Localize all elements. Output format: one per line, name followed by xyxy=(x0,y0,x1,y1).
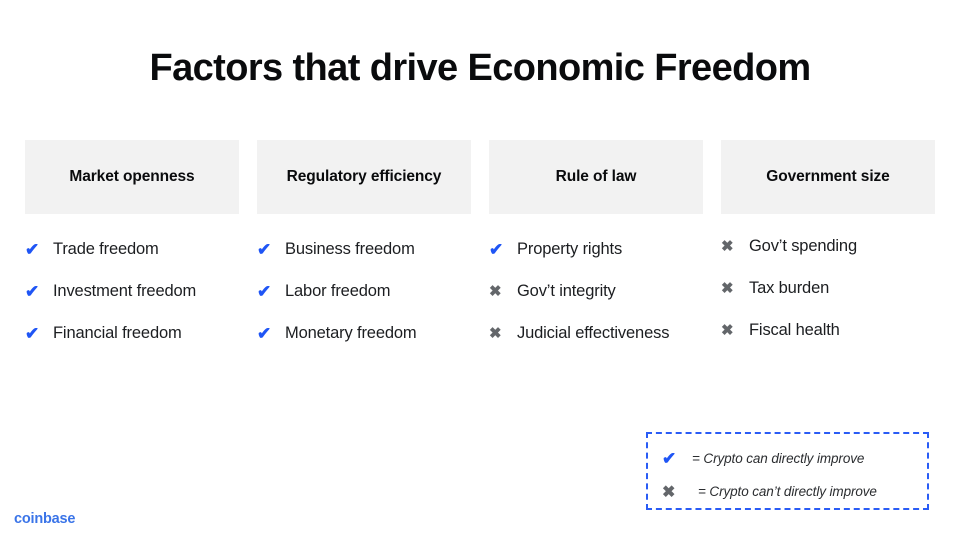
column-header-label: Regulatory efficiency xyxy=(287,168,442,187)
list-item: ✔ Labor freedom xyxy=(257,280,471,303)
list-item-label: Property rights xyxy=(517,238,622,261)
list-item-label: Labor freedom xyxy=(285,280,390,303)
check-icon: ✔ xyxy=(25,238,47,261)
column-header-label: Market openness xyxy=(69,168,194,187)
check-icon: ✔ xyxy=(257,238,279,261)
column-government-size: Government size ✖ Gov’t spending ✖ Tax b… xyxy=(721,140,935,364)
check-icon: ✔ xyxy=(25,322,47,345)
list-item: ✔ Trade freedom xyxy=(25,238,239,261)
check-icon: ✔ xyxy=(662,449,692,469)
column-item-list: ✔ Trade freedom ✔ Investment freedom ✔ F… xyxy=(25,238,239,364)
list-item-label: Monetary freedom xyxy=(285,322,417,345)
list-item: ✔ Investment freedom xyxy=(25,280,239,303)
list-item-label: Investment freedom xyxy=(53,280,196,303)
cross-icon: ✖ xyxy=(721,277,743,300)
cross-icon: ✖ xyxy=(662,482,692,502)
list-item: ✔ Business freedom xyxy=(257,238,471,261)
check-icon: ✔ xyxy=(489,238,511,261)
column-item-list: ✔ Business freedom ✔ Labor freedom ✔ Mon… xyxy=(257,238,471,364)
factor-columns: Market openness ✔ Trade freedom ✔ Invest… xyxy=(25,140,935,364)
check-icon: ✔ xyxy=(25,280,47,303)
check-icon: ✔ xyxy=(257,322,279,345)
list-item-label: Tax burden xyxy=(749,277,829,300)
column-header: Rule of law xyxy=(489,140,703,214)
list-item: ✖ Fiscal health xyxy=(721,319,935,342)
slide-canvas: Factors that drive Economic Freedom Mark… xyxy=(0,0,960,540)
legend-label: = Crypto can directly improve xyxy=(692,451,864,466)
column-header-label: Rule of law xyxy=(556,168,637,187)
column-regulatory-efficiency: Regulatory efficiency ✔ Business freedom… xyxy=(257,140,471,364)
column-item-list: ✖ Gov’t spending ✖ Tax burden ✖ Fiscal h… xyxy=(721,235,935,361)
list-item: ✖ Gov’t integrity xyxy=(489,280,703,303)
list-item-label: Financial freedom xyxy=(53,322,182,345)
legend-box: ✔ = Crypto can directly improve ✖ = Cryp… xyxy=(646,432,929,510)
check-icon: ✔ xyxy=(257,280,279,303)
column-header: Market openness xyxy=(25,140,239,214)
column-market-openness: Market openness ✔ Trade freedom ✔ Invest… xyxy=(25,140,239,364)
cross-icon: ✖ xyxy=(721,319,743,342)
cross-icon: ✖ xyxy=(721,235,743,258)
cross-icon: ✖ xyxy=(489,322,511,345)
list-item: ✔ Monetary freedom xyxy=(257,322,471,345)
cross-icon: ✖ xyxy=(489,280,511,303)
page-title: Factors that drive Economic Freedom xyxy=(0,48,960,90)
list-item: ✖ Gov’t spending xyxy=(721,235,935,258)
list-item-label: Gov’t spending xyxy=(749,235,857,258)
list-item-label: Business freedom xyxy=(285,238,415,261)
coinbase-logo: coinbase xyxy=(14,511,75,527)
list-item: ✖ Judicial effectiveness xyxy=(489,322,703,345)
list-item-label: Gov’t integrity xyxy=(517,280,616,303)
list-item-label: Fiscal health xyxy=(749,319,840,342)
column-header: Regulatory efficiency xyxy=(257,140,471,214)
column-item-list: ✔ Property rights ✖ Gov’t integrity ✖ Ju… xyxy=(489,238,703,364)
list-item-label: Judicial effectiveness xyxy=(517,322,669,345)
list-item: ✔ Property rights xyxy=(489,238,703,261)
column-header-label: Government size xyxy=(766,168,889,187)
legend-row-cannot-improve: ✖ = Crypto can’t directly improve xyxy=(662,477,913,506)
legend-row-can-improve: ✔ = Crypto can directly improve xyxy=(662,444,913,473)
list-item-label: Trade freedom xyxy=(53,238,159,261)
column-header: Government size xyxy=(721,140,935,214)
list-item: ✖ Tax burden xyxy=(721,277,935,300)
column-rule-of-law: Rule of law ✔ Property rights ✖ Gov’t in… xyxy=(489,140,703,364)
legend-label: = Crypto can’t directly improve xyxy=(692,484,877,499)
list-item: ✔ Financial freedom xyxy=(25,322,239,345)
